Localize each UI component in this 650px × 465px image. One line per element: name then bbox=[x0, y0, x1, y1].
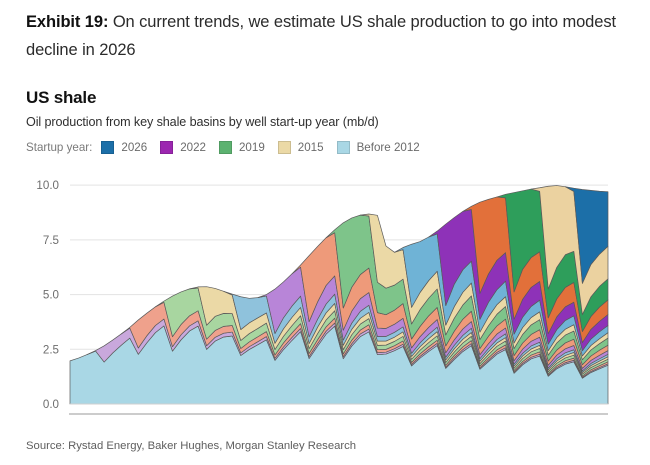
legend-item-2015[interactable]: 2015 bbox=[278, 141, 324, 154]
exhibit-text: On current trends, we estimate US shale … bbox=[26, 13, 616, 59]
y-tick-label: 10.0 bbox=[36, 179, 59, 192]
legend-item-label: 2022 bbox=[180, 141, 206, 154]
legend-item-2026[interactable]: 2026 bbox=[101, 141, 147, 154]
legend-item-2022[interactable]: 2022 bbox=[160, 141, 206, 154]
chart-canvas: 0.02.55.07.510.0201520202025 bbox=[0, 160, 650, 415]
legend-swatch-icon bbox=[337, 141, 350, 154]
legend-swatch-icon bbox=[160, 141, 173, 154]
legend-item-2019[interactable]: 2019 bbox=[219, 141, 265, 154]
legend-item-label: 2015 bbox=[298, 141, 324, 154]
stacked-area-chart: 0.02.55.07.510.0201520202025 bbox=[0, 160, 650, 415]
y-tick-label: 0.0 bbox=[43, 398, 59, 411]
legend-item-before-2012[interactable]: Before 2012 bbox=[337, 141, 420, 154]
exhibit-page: Exhibit 19: On current trends, we estima… bbox=[0, 0, 650, 465]
legend-swatch-icon bbox=[278, 141, 291, 154]
legend-item-label: 2019 bbox=[239, 141, 265, 154]
legend-item-label: 2026 bbox=[121, 141, 147, 154]
y-tick-label: 5.0 bbox=[43, 289, 59, 302]
source-note: Source: Rystad Energy, Baker Hughes, Mor… bbox=[26, 440, 356, 452]
legend-swatch-icon bbox=[101, 141, 114, 154]
exhibit-heading: Exhibit 19: On current trends, we estima… bbox=[26, 8, 632, 64]
y-tick-label: 7.5 bbox=[43, 234, 59, 247]
legend-swatch-icon bbox=[219, 141, 232, 154]
legend-title: Startup year: bbox=[26, 141, 92, 154]
chart-subtitle: Oil production from key shale basins by … bbox=[26, 115, 379, 129]
chart-title: US shale bbox=[26, 88, 96, 108]
chart-legend: Startup year: 2026202220192015Before 201… bbox=[26, 141, 433, 154]
legend-item-label: Before 2012 bbox=[357, 141, 420, 154]
exhibit-label: Exhibit 19: bbox=[26, 13, 108, 31]
y-tick-label: 2.5 bbox=[43, 343, 59, 356]
